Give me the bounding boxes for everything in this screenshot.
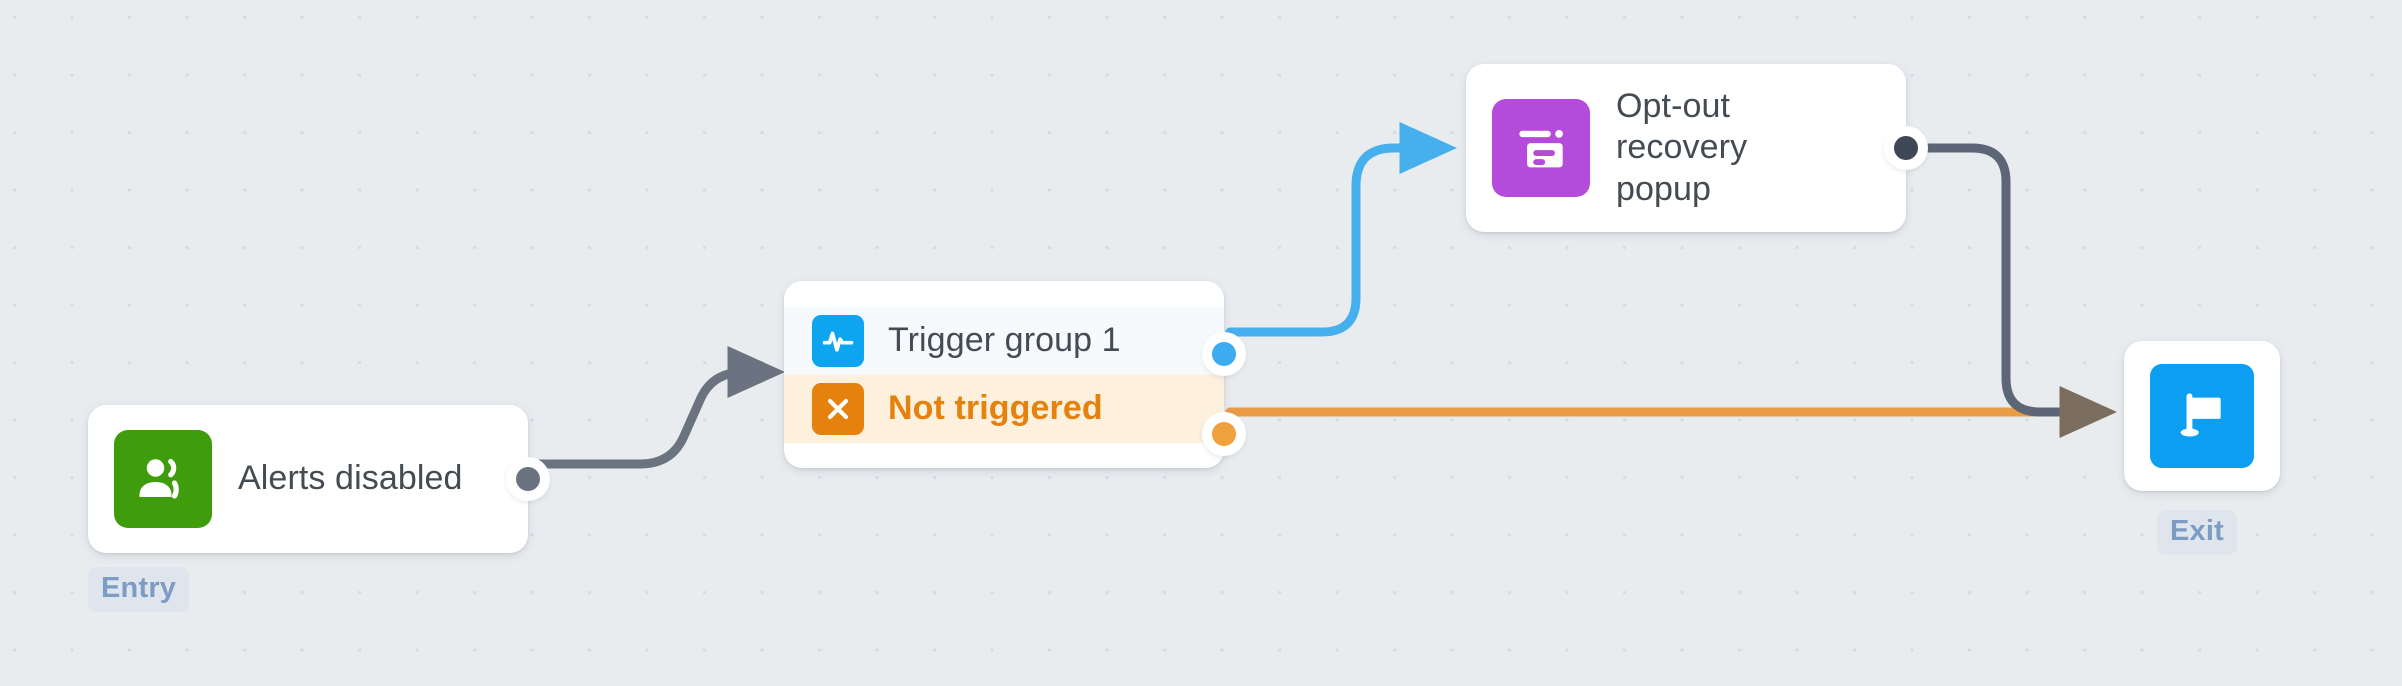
edge-entry-to-trigger	[534, 372, 758, 464]
node-alerts-disabled[interactable]: Alerts disabled	[88, 405, 528, 553]
node-trigger-group[interactable]: Trigger group 1 Not triggered	[784, 281, 1224, 468]
output-port-triggered[interactable]	[1212, 342, 1236, 366]
node-title: Opt-out recovery popup	[1616, 86, 1846, 210]
workflow-canvas[interactable]: Alerts disabled Entry Trigger group 1 No…	[0, 0, 2402, 686]
node-opt-out-recovery-popup[interactable]: Opt-out recovery popup	[1466, 64, 1906, 232]
popup-window-icon	[1492, 99, 1590, 197]
entry-zone-label: Entry	[88, 567, 189, 612]
row-label: Trigger group 1	[888, 321, 1121, 360]
edge-popup-to-exit	[1918, 148, 2090, 412]
row-not-triggered[interactable]: Not triggered	[784, 375, 1224, 443]
row-trigger-group-1[interactable]: Trigger group 1	[784, 307, 1224, 375]
exit-zone-label: Exit	[2157, 510, 2237, 555]
node-title: Alerts disabled	[238, 458, 463, 499]
output-port-popup[interactable]	[1894, 136, 1918, 160]
output-port-entry[interactable]	[516, 467, 540, 491]
node-exit[interactable]	[2124, 341, 2280, 491]
output-port-not-triggered[interactable]	[1212, 422, 1236, 446]
close-x-icon	[812, 383, 864, 435]
row-label: Not triggered	[888, 389, 1103, 428]
flag-icon	[2150, 364, 2254, 468]
people-group-icon	[114, 430, 212, 528]
activity-pulse-icon	[812, 315, 864, 367]
edge-triggered-to-popup	[1230, 148, 1430, 332]
